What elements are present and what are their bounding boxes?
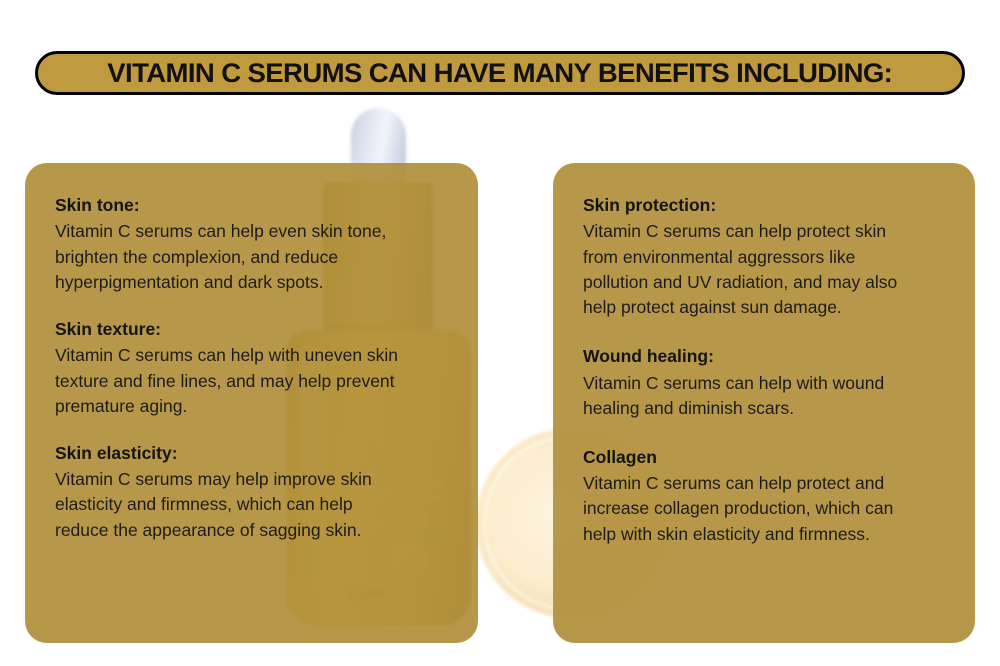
benefit-body: Vitamin C serums can help with uneven sk… (55, 343, 452, 419)
benefit-item: Skin elasticity: Vitamin C serums may he… (55, 441, 452, 543)
benefit-item: Skin texture: Vitamin C serums can help … (55, 317, 452, 419)
infographic-canvas: 10% NUXED CARE WITH RADIANCE VITAMIN C S… (0, 0, 1000, 666)
benefit-item: Skin tone: Vitamin C serums can help eve… (55, 193, 452, 295)
benefit-body: Vitamin C serums may help improve skin e… (55, 467, 452, 543)
benefit-title: Skin texture: (55, 317, 452, 342)
benefit-body: Vitamin C serums can help protect and in… (583, 471, 949, 547)
benefits-card-right: Skin protection: Vitamin C serums can he… (553, 163, 975, 643)
benefit-title: Skin tone: (55, 193, 452, 218)
benefit-item: Wound healing: Vitamin C serums can help… (583, 344, 949, 421)
benefit-item: Skin protection: Vitamin C serums can he… (583, 193, 949, 320)
benefit-body: Vitamin C serums can help even skin tone… (55, 219, 452, 295)
page-title-banner: VITAMIN C SERUMS CAN HAVE MANY BENEFITS … (35, 51, 965, 95)
benefit-title: Skin elasticity: (55, 441, 452, 466)
benefit-title: Wound healing: (583, 344, 949, 369)
benefit-title: Collagen (583, 445, 949, 470)
benefit-body: Vitamin C serums can help with wound hea… (583, 371, 949, 421)
benefits-card-left: Skin tone: Vitamin C serums can help eve… (25, 163, 478, 643)
benefit-item: Collagen Vitamin C serums can help prote… (583, 445, 949, 547)
benefit-title: Skin protection: (583, 193, 949, 218)
benefit-body: Vitamin C serums can help protect skin f… (583, 219, 949, 320)
page-title: VITAMIN C SERUMS CAN HAVE MANY BENEFITS … (108, 58, 893, 89)
